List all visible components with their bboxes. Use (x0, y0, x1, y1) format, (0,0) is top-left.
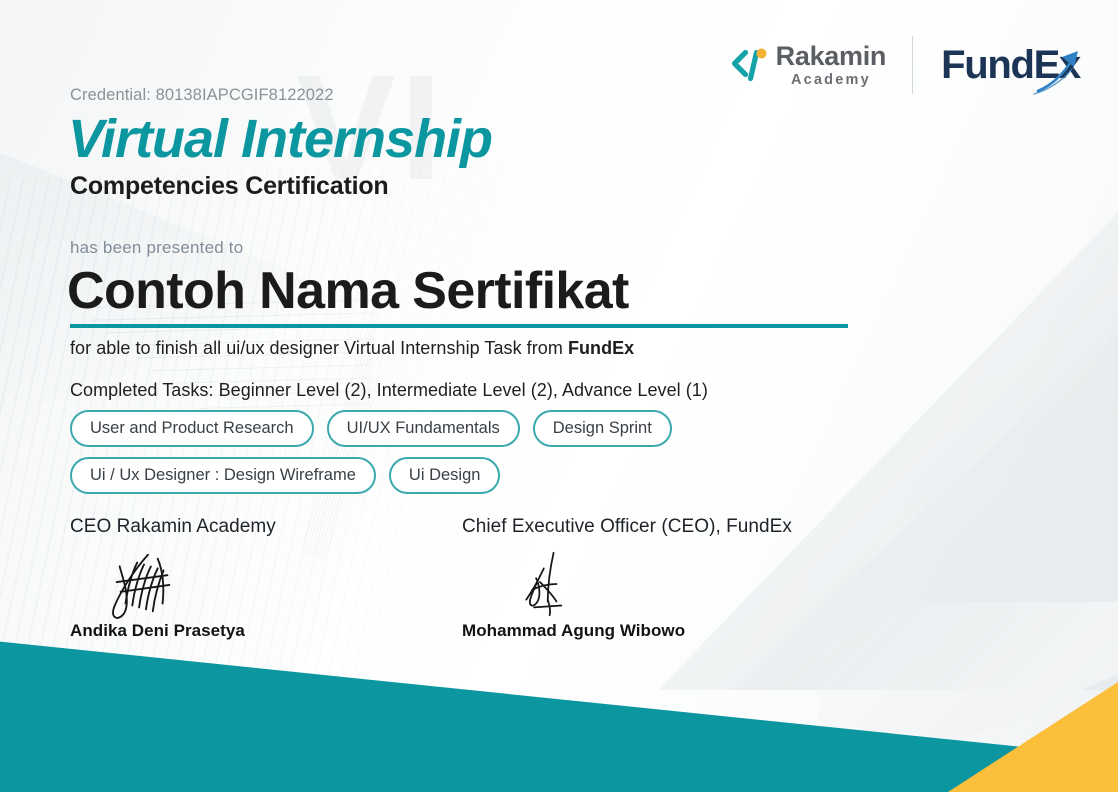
code-brackets-icon (730, 48, 768, 82)
signatory-name: Mohammad Agung Wibowo (462, 621, 792, 641)
signature-block-fundex: Chief Executive Officer (CEO), FundEx Mo… (462, 515, 792, 641)
tasks-summary: Completed Tasks: Beginner Level (2), Int… (70, 380, 708, 401)
signatory-role: CEO Rakamin Academy (70, 515, 400, 539)
rakamin-subtitle: Academy (791, 73, 871, 88)
rakamin-wordmark: Rakamin Academy (776, 43, 886, 88)
recipient-name: Contoh Nama Sertifikat (67, 262, 629, 322)
task-pill: Ui / Ux Designer : Design Wireframe (70, 457, 376, 494)
completed-task-list: User and Product ResearchUI/UX Fundament… (70, 410, 930, 494)
signatory-role: Chief Executive Officer (CEO), FundEx (462, 515, 792, 539)
award-reason-company: FundEx (568, 338, 634, 358)
task-pill: Ui Design (389, 457, 501, 494)
award-reason-text: for able to finish all ui/ux designer Vi… (70, 338, 568, 358)
handwritten-signature-icon (70, 545, 400, 619)
award-reason: for able to finish all ui/ux designer Vi… (70, 338, 634, 359)
page-title: Virtual Internship (68, 112, 492, 166)
signature-block-rakamin: CEO Rakamin Academy And (70, 515, 400, 641)
presented-to-label: has been presented to (70, 238, 243, 258)
fundex-logo: FundEx (913, 43, 1080, 88)
rakamin-logo: Rakamin Academy (730, 43, 912, 88)
teal-divider-rule (70, 324, 848, 328)
fundex-name: FundEx (941, 43, 1080, 88)
handwritten-signature-icon (462, 545, 792, 619)
task-pill: User and Product Research (70, 410, 314, 447)
credential-id: Credential: 80138IAPCGIF8122022 (70, 86, 334, 105)
signatory-name: Andika Deni Prasetya (70, 621, 400, 641)
certificate-page: VI Rakamin Academy FundEx (0, 0, 1118, 792)
task-pill: Design Sprint (533, 410, 672, 447)
logo-row: Rakamin Academy FundEx (730, 34, 1080, 96)
page-subtitle: Competencies Certification (70, 172, 388, 201)
task-pill: UI/UX Fundamentals (327, 410, 520, 447)
rakamin-name: Rakamin (776, 43, 886, 70)
